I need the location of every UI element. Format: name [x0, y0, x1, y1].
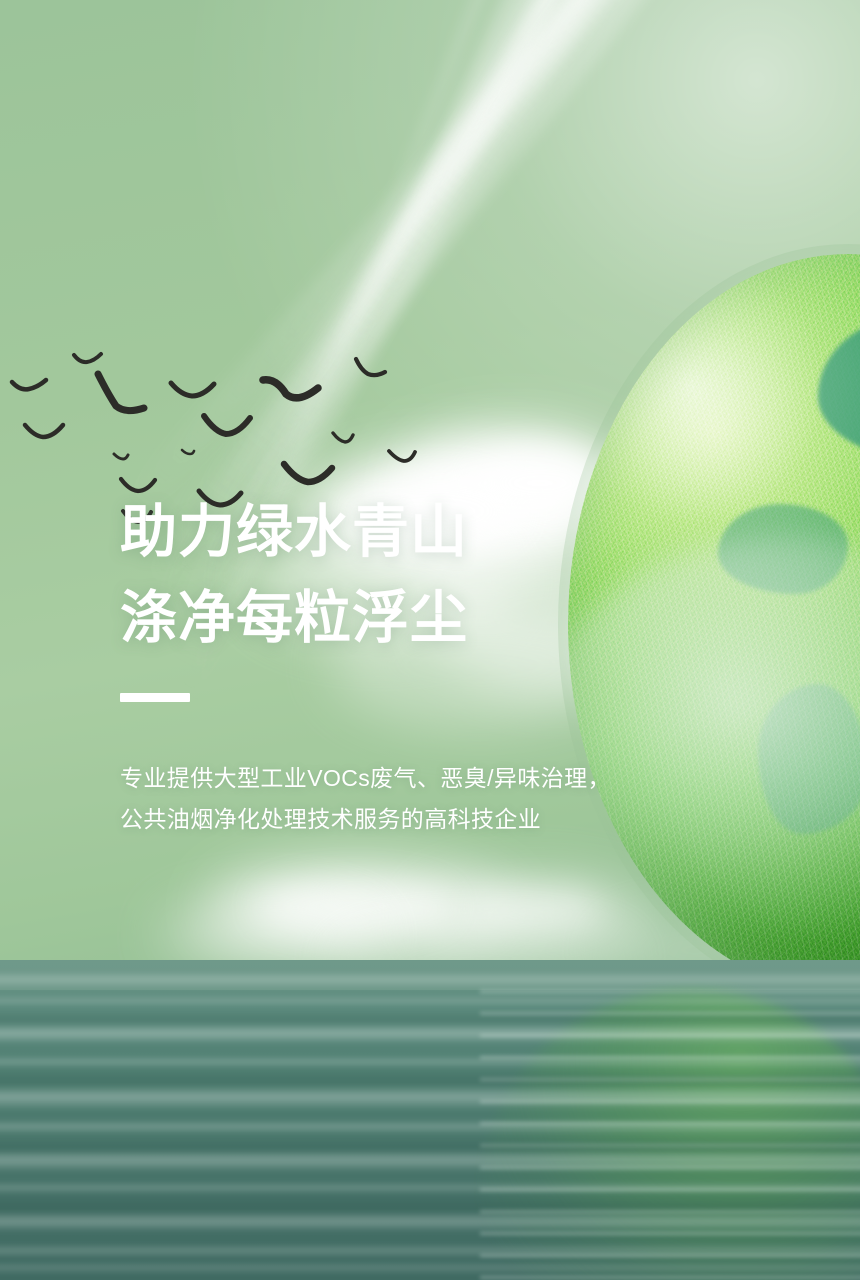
- headline-line-1: 助力绿水青山: [120, 490, 680, 576]
- divider-rule: [120, 693, 190, 702]
- hero-poster: 助力绿水青山 涤净每粒浮尘 专业提供大型工业VOCs废气、恶臭/异味治理， 公共…: [0, 0, 860, 1280]
- water-ripples-icon: [0, 960, 860, 1280]
- headline-line-2: 涤净每粒浮尘: [120, 576, 680, 662]
- subtitle-line-2: 公共油烟净化处理技术服务的高科技企业: [120, 799, 680, 840]
- page-title: 助力绿水青山 涤净每粒浮尘: [120, 490, 680, 661]
- hero-text-block: 助力绿水青山 涤净每粒浮尘 专业提供大型工业VOCs废气、恶臭/异味治理， 公共…: [120, 490, 680, 840]
- hero-subtitle: 专业提供大型工业VOCs废气、恶臭/异味治理， 公共油烟净化处理技术服务的高科技…: [120, 758, 680, 840]
- flying-birds-icon: [0, 330, 470, 470]
- subtitle-line-1: 专业提供大型工业VOCs废气、恶臭/异味治理，: [120, 758, 680, 799]
